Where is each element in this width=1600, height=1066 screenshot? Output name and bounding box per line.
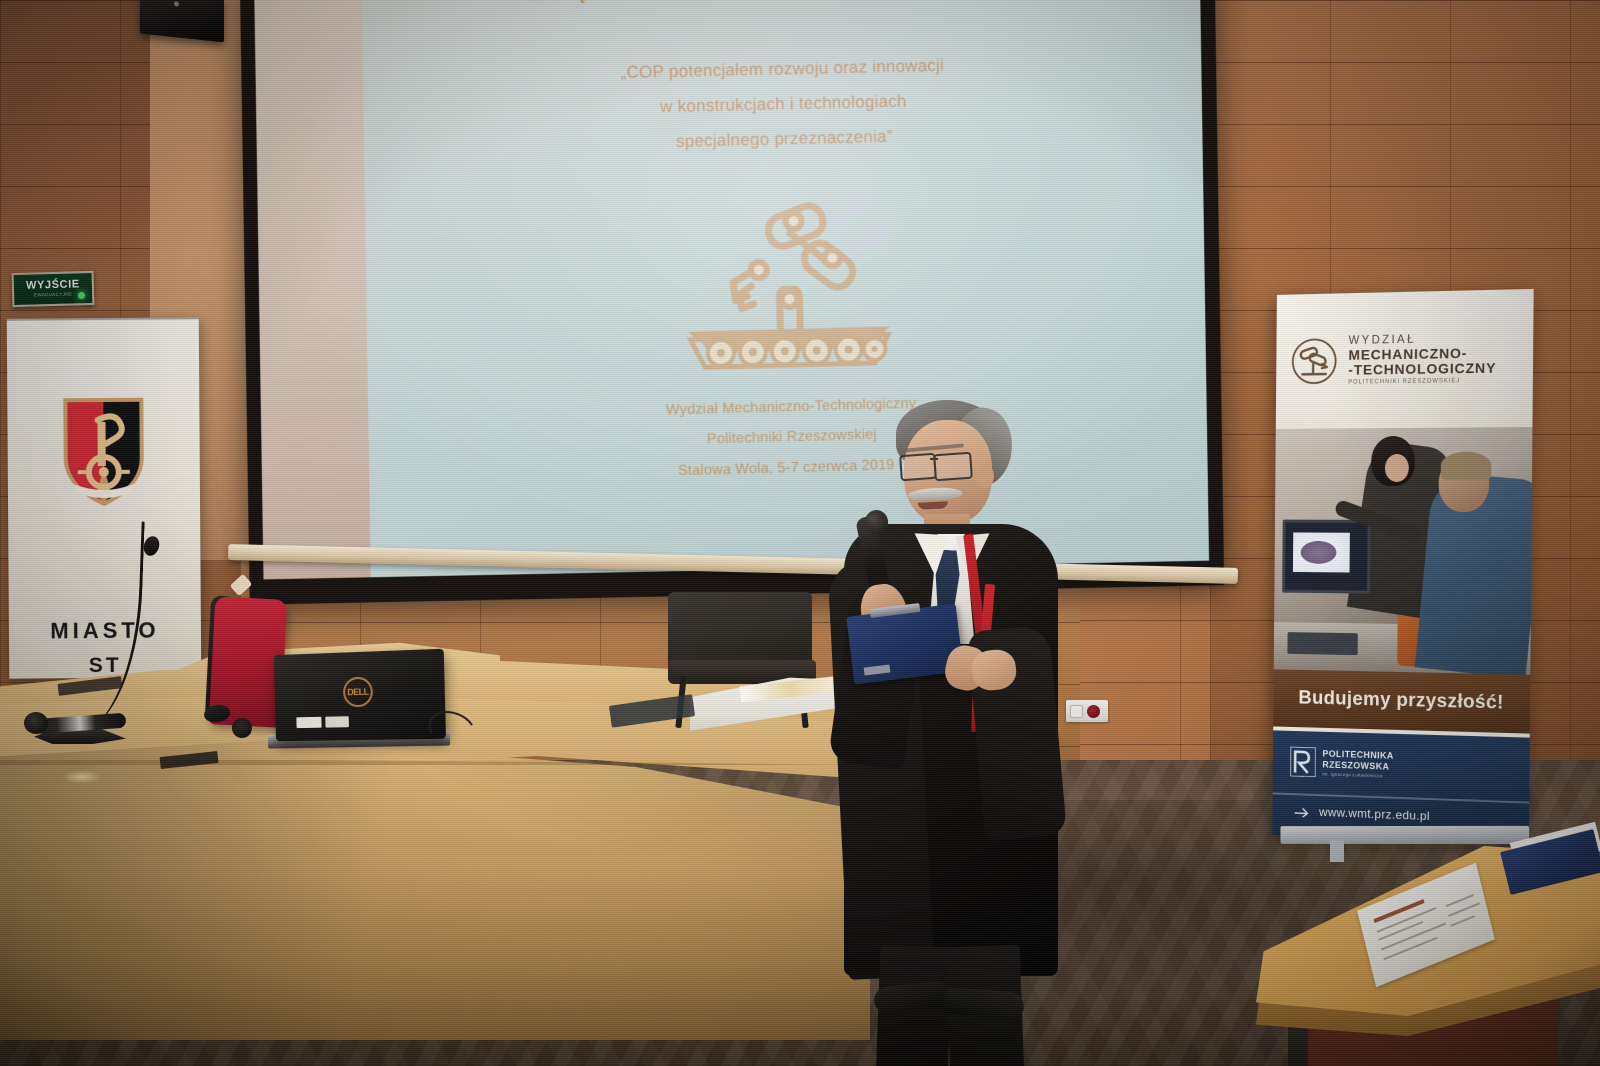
banner-slogan-band: Budujemy przyszłość! [1273,669,1530,733]
emergency-exit-sign: WYJŚCIE EWAKUACYJNE [12,271,95,307]
slide-footer-line3: Stalowa Wola, 5-7 czerwca 2019 r. [371,448,1209,487]
faculty-rollup-banner: WYDZIAŁ MECHANICZNO- -TECHNOLOGICZNY POL… [1272,289,1533,845]
outlet-indicator-icon [1087,705,1100,718]
cable-knob [232,718,252,738]
screen-unlit-margin [254,0,371,579]
slide-subtitle-line1: „COP potencjałem rozwoju oraz innowacji [361,50,1200,89]
speaker-ear [976,464,994,488]
city-coat-of-arms-icon [57,392,150,511]
projection-screen-surface: II MIĘDZYNARODOWA KONFERENCJA NAUKOWA pt… [254,0,1209,579]
university-logo-block: POLITECHNIKA RZESZOWSKA im. Ignacego Łuk… [1290,747,1394,780]
banner-right-base [1280,826,1529,844]
wmt-robot-arm-logo-icon [1290,336,1339,386]
slide-heading: II MIĘDZYNARODOWA KONFERENCJA NAUKOWA [359,0,1198,9]
slide-footer-line2: Politechniki Rzeszowskiej [370,418,1209,457]
handheld-microphone-grille-icon [24,712,48,734]
banner-photo-students [1274,427,1533,675]
laptop-sticker-secondary [325,716,349,727]
banner-top-rail [7,317,199,320]
laptop-sticker [296,717,321,728]
laptop: DELL [274,649,446,742]
politechnika-rzeszowska-logo-icon [1290,747,1316,777]
slide-subtitle-line2: w konstrukcjach i technologiach [362,85,1201,124]
speaker-person [824,398,1064,1066]
outlet-socket-icon [1070,705,1083,718]
projection-screen: II MIĘDZYNARODOWA KONFERENCJA NAUKOWA pt… [240,0,1224,605]
eyeglasses-bridge [930,458,938,460]
speaker-shoe-right [943,987,1025,1019]
arrow-right-icon [1294,805,1310,817]
exit-sign-line1: WYJŚCIE [26,280,80,292]
desk-light-reflection [62,770,102,784]
university-name-line3: im. Ignacego Łukasiewicza [1322,771,1393,778]
exit-sign-indicator-icon [78,292,85,299]
banner-right-header: WYDZIAŁ MECHANICZNO- -TECHNOLOGICZNY POL… [1276,289,1534,429]
wall-power-outlet [1066,700,1108,722]
slide-subtitle-line3: specjalnego przeznaczenia” [363,120,1202,159]
banner-slogan-text: Budujemy przyszłość! [1298,688,1504,715]
photo-scene: WYJŚCIE EWAKUACYJNE II MIĘDZYNARODOWA KO… [0,0,1600,1066]
robotic-arm-tank-icon [671,179,905,375]
university-name-line2: RZESZOWSKA [1322,759,1393,772]
dell-logo-icon: DELL [343,677,373,708]
presentation-slide: II MIĘDZYNARODOWA KONFERENCJA NAUKOWA pt… [358,0,1209,579]
banner-right-leg [1330,840,1344,862]
banner-right-heading-text: WYDZIAŁ MECHANICZNO- -TECHNOLOGICZNY POL… [1348,333,1496,386]
exit-sign-line2: EWAKUACYJNE [34,293,73,299]
eyeglasses-right-lens-icon [933,452,973,482]
banner-heading-line4: POLITECHNIKI RZESZOWSKIEJ [1348,378,1496,386]
banner-heading-line3: -TECHNOLOGICZNY [1348,361,1496,378]
